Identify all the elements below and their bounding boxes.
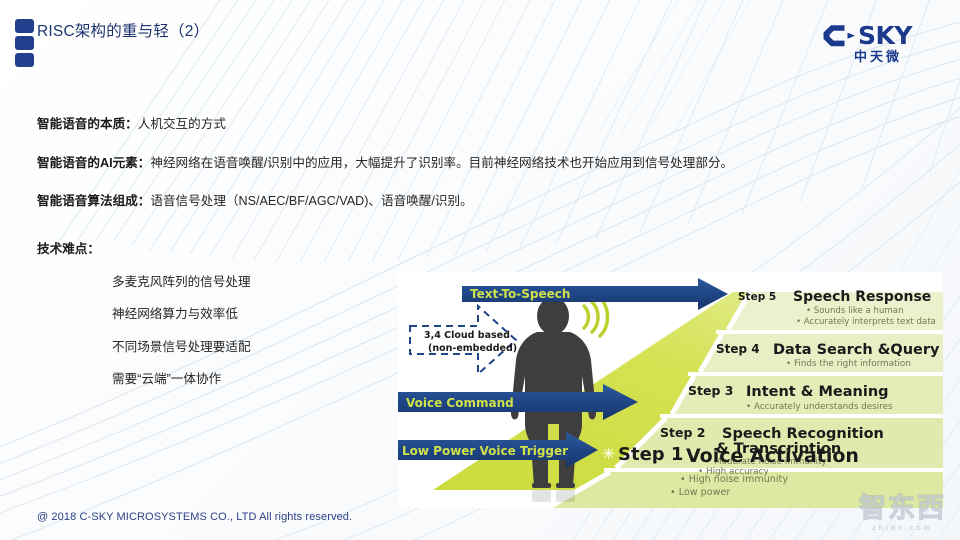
step-5-bullet-2: • Accurately interprets text data [796, 317, 936, 327]
paragraph-algorithm-label: 智能语音算法组成： [37, 194, 150, 208]
technical-difficulties: 技术难点： 多麦克风阵列的信号处理 神经网络算力与效率低 不同场景信号处理要适配… [37, 243, 251, 386]
step-1-label: Step 1 [618, 444, 683, 465]
paragraph-ai-elements-label: 智能语音的AI元素： [37, 156, 150, 170]
step-5-label: Step 5 [738, 291, 776, 303]
logo-chinese-name: 中天微 [818, 51, 938, 64]
list-item: 不同场景信号处理要适配 [112, 341, 251, 354]
paragraph-algorithm: 智能语音算法组成：语音信号处理（NS/AEC/BF/AGC/VAD)、语音唤醒/… [37, 195, 942, 208]
step-3-bullet-1: • Accurately understands desires [746, 402, 893, 412]
voice-pipeline-diagram: 3,4 Cloud based (non-embedded) Text-To-S… [398, 272, 943, 508]
svg-text:Text-To-Speech: Text-To-Speech [470, 287, 570, 301]
paragraph-ai-elements-text: 神经网络在语音唤醒/识别中的应用，大幅提升了识别率。目前神经网络技术也开始应用到… [150, 156, 733, 170]
step-4-title: Data Search &Query [773, 342, 940, 358]
step-1-bullet-1: • High noise immunity [680, 474, 788, 485]
title-mark-3 [15, 53, 34, 67]
cloud-note-line1: 3,4 Cloud based [424, 330, 510, 341]
list-item: 需要“云端”一体协作 [112, 373, 251, 386]
svg-text:Voice Command: Voice Command [406, 396, 514, 410]
step-3-title: Intent & Meaning [746, 384, 889, 400]
step-5-bullet-1: • Sounds like a human [806, 306, 904, 316]
title-mark-2 [15, 36, 34, 50]
copyright-footer: @ 2018 C-SKY MICROSYSTEMS CO., LTD All r… [37, 511, 352, 523]
step-4-label: Step 4 [716, 342, 760, 356]
step-5-title: Speech Response [793, 289, 931, 305]
list-item: 多麦克风阵列的信号处理 [112, 276, 251, 289]
title-bullet-marks [15, 19, 34, 67]
csky-logo-icon: SKY [818, 22, 938, 49]
page-title: RISC架构的重与轻（2） [37, 19, 209, 41]
step-4-bullet-1: • Finds the right information [786, 359, 911, 369]
step-3-label: Step 3 [688, 383, 733, 398]
title-mark-1 [15, 19, 34, 33]
step-1-star: ✳ [602, 444, 615, 463]
step-2-title-line1: Speech Recognition [722, 426, 884, 442]
paragraph-ai-elements: 智能语音的AI元素：神经网络在语音唤醒/识别中的应用，大幅提升了识别率。目前神经… [37, 157, 942, 170]
svg-text:SKY: SKY [858, 22, 913, 49]
paragraph-essence: 智能语音的本质：人机交互的方式 [37, 118, 942, 131]
content-paragraphs: 智能语音的本质：人机交互的方式 智能语音的AI元素：神经网络在语音唤醒/识别中的… [37, 118, 942, 234]
step-2-label: Step 2 [660, 425, 705, 440]
step-1-title: Voice Activation [686, 445, 859, 467]
watermark-url: zhidx.com [859, 523, 946, 532]
paragraph-essence-label: 智能语音的本质： [37, 117, 138, 131]
difficulties-heading: 技术难点： [37, 243, 251, 256]
step-1-bullet-2: • Low power [670, 487, 730, 498]
brand-logo: SKY 中天微 [818, 22, 938, 64]
cloud-note-line2: (non-embedded) [428, 343, 517, 354]
paragraph-essence-text: 人机交互的方式 [138, 117, 226, 131]
svg-text:Low Power Voice Trigger: Low Power Voice Trigger [402, 444, 568, 458]
slide-canvas: RISC架构的重与轻（2） SKY 中天微 智能语音的本质：人机交互的方式 智能… [0, 0, 960, 540]
list-item: 神经网络算力与效率低 [112, 308, 251, 321]
paragraph-algorithm-text: 语音信号处理（NS/AEC/BF/AGC/VAD)、语音唤醒/识别。 [150, 194, 472, 208]
difficulties-list: 多麦克风阵列的信号处理 神经网络算力与效率低 不同场景信号处理要适配 需要“云端… [37, 276, 251, 386]
